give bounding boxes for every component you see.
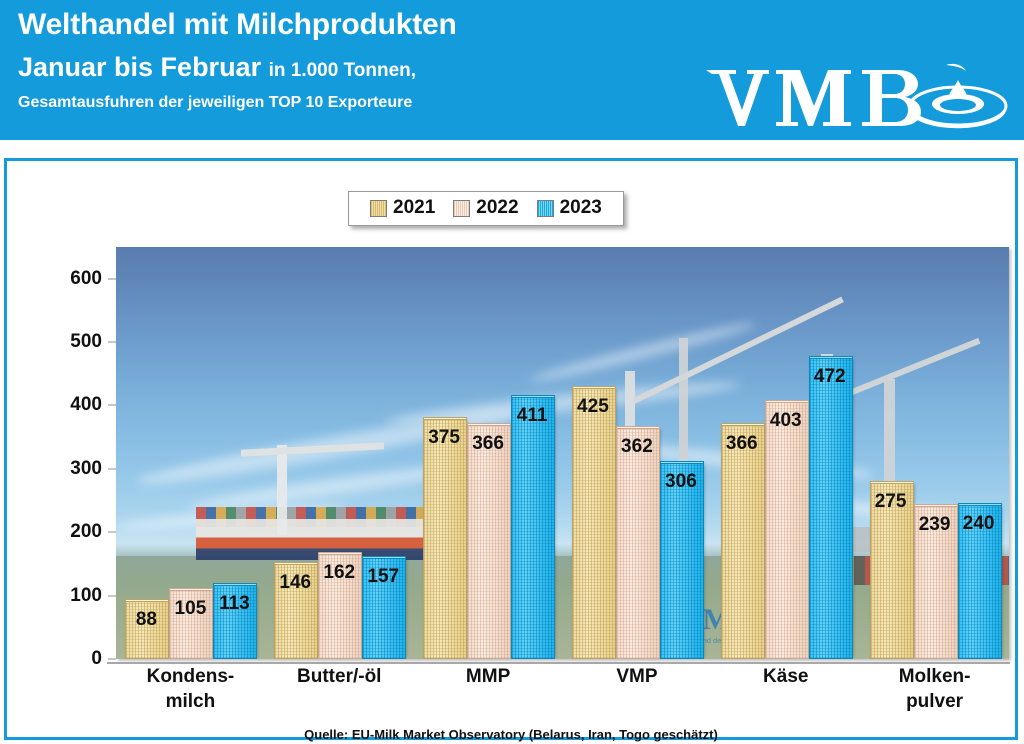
bar-2021-1[interactable]: 88 [125, 603, 167, 659]
y-tick-mark [108, 405, 116, 406]
bar-series-layer: 8810511314616215737536641142536230636640… [116, 247, 1009, 659]
bar-value-label: 362 [621, 436, 653, 458]
page-header: Welthandel mit Milchprodukten Januar bis… [0, 0, 1024, 140]
bar-2023-4[interactable]: 306 [660, 465, 702, 659]
chart-legend: 2021 2022 2023 [348, 191, 624, 226]
bar-2023-2[interactable]: 157 [362, 560, 404, 660]
bar-2022-2[interactable]: 162 [318, 556, 360, 659]
bar-value-label: 375 [428, 427, 460, 449]
header-title-line1: Welthandel mit Milchprodukten [18, 8, 718, 42]
x-axis-label-line: Kondens- [147, 664, 235, 689]
y-tick-mark [108, 468, 116, 469]
bar-front-face [616, 428, 660, 659]
bar-value-label: 366 [472, 433, 504, 455]
legend-swatch-2021 [370, 200, 387, 217]
bar-2021-5[interactable]: 366 [721, 427, 763, 659]
legend-item-2023[interactable]: 2023 [537, 197, 602, 219]
bar-value-label: 88 [136, 609, 157, 631]
x-axis-label-3: MMP [466, 664, 510, 689]
bar-2022-3[interactable]: 366 [467, 427, 509, 659]
header-period: Januar bis Februar [18, 52, 261, 82]
bar-2023-1[interactable]: 113 [213, 587, 255, 659]
vmb-logo [700, 62, 1010, 134]
y-tick-mark [108, 342, 116, 343]
bar-2023-3[interactable]: 411 [511, 399, 553, 660]
bar-value-label: 472 [814, 366, 846, 388]
bar-2021-4[interactable]: 425 [572, 390, 614, 659]
y-tick-mark [108, 532, 116, 533]
chart-page: Welthandel mit Milchprodukten Januar bis… [0, 0, 1024, 744]
plot-wrapper: VMB Verband der Milcherzeuger Bayern e.V… [116, 247, 1009, 662]
x-axis-label-line: MMP [466, 664, 510, 689]
bar-2022-5[interactable]: 403 [765, 404, 807, 659]
bar-front-face [467, 425, 511, 659]
bar-front-face [809, 358, 853, 659]
bar-front-face [423, 419, 467, 659]
x-axis-label-4: VMP [616, 664, 657, 689]
x-axis-label-line: Käse [763, 664, 808, 689]
bar-front-face [572, 388, 616, 659]
x-axis-label-line: VMP [616, 664, 657, 689]
bar-value-label: 162 [323, 562, 355, 584]
plot-area: VMB Verband der Milcherzeuger Bayern e.V… [116, 247, 1009, 659]
y-tick-label: 100 [70, 585, 102, 607]
bar-front-face [511, 397, 555, 660]
y-tick-mark [108, 278, 116, 279]
bar-front-face [721, 425, 765, 659]
bar-value-label: 105 [175, 598, 207, 620]
legend-label-2022: 2022 [476, 197, 518, 219]
y-axis-ticks: 0100200300400500600 [74, 247, 116, 662]
bar-2022-4[interactable]: 362 [616, 430, 658, 659]
chart-card: 2021 2022 2023 [4, 158, 1018, 740]
bar-value-label: 425 [577, 396, 609, 418]
bar-2021-2[interactable]: 146 [274, 566, 316, 659]
x-axis-label-line: milch [147, 689, 235, 714]
y-tick-label: 500 [70, 331, 102, 353]
bar-2022-1[interactable]: 105 [169, 592, 211, 659]
y-tick-label: 400 [70, 394, 102, 416]
legend-label-2023: 2023 [560, 197, 602, 219]
x-axis-labels: Kondens-milchButter/-ölMMPVMPKäseMolken-… [116, 664, 1009, 726]
bar-2023-6[interactable]: 240 [958, 507, 1000, 659]
y-tick-label: 0 [91, 648, 102, 670]
x-axis-label-line: Butter/-öl [297, 664, 381, 689]
x-axis-label-1: Kondens-milch [147, 664, 235, 714]
y-tick-label: 200 [70, 521, 102, 543]
bar-front-face [765, 402, 809, 659]
source-note: Quelle: EU-Milk Market Observatory (Bela… [304, 727, 718, 742]
x-axis-label-5: Käse [763, 664, 808, 689]
x-axis-label-line: Molken- [899, 664, 971, 689]
y-tick-mark [108, 659, 116, 660]
bar-value-label: 113 [219, 593, 250, 615]
bar-2021-6[interactable]: 275 [870, 485, 912, 659]
bar-value-label: 366 [726, 433, 758, 455]
bar-value-label: 239 [919, 514, 951, 536]
header-title-line2: Januar bis Februar in 1.000 Tonnen, [18, 52, 718, 86]
legend-label-2021: 2021 [393, 197, 435, 219]
bar-value-label: 411 [517, 405, 548, 427]
bar-2023-5[interactable]: 472 [809, 360, 851, 659]
bar-2021-3[interactable]: 375 [423, 421, 465, 659]
header-text-block: Welthandel mit Milchprodukten Januar bis… [18, 8, 718, 112]
bar-value-label: 403 [770, 410, 802, 432]
header-subtitle: Gesamtausfuhren der jeweiligen TOP 10 Ex… [18, 93, 718, 112]
bar-value-label: 306 [665, 471, 697, 493]
legend-item-2022[interactable]: 2022 [453, 197, 518, 219]
bar-value-label: 157 [367, 566, 399, 588]
bar-value-label: 275 [875, 491, 907, 513]
legend-item-2021[interactable]: 2021 [370, 197, 435, 219]
bar-2022-6[interactable]: 239 [914, 508, 956, 659]
bar-value-label: 240 [963, 513, 995, 535]
bar-value-label: 146 [279, 572, 311, 594]
y-tick-label: 600 [70, 268, 102, 290]
x-axis-label-line: pulver [899, 689, 971, 714]
x-axis-label-6: Molken-pulver [899, 664, 971, 714]
y-tick-label: 300 [70, 458, 102, 480]
legend-swatch-2023 [537, 200, 554, 217]
x-axis-label-2: Butter/-öl [297, 664, 381, 689]
legend-swatch-2022 [453, 200, 470, 217]
header-unit: in 1.000 Tonnen, [269, 60, 416, 81]
y-tick-mark [108, 595, 116, 596]
